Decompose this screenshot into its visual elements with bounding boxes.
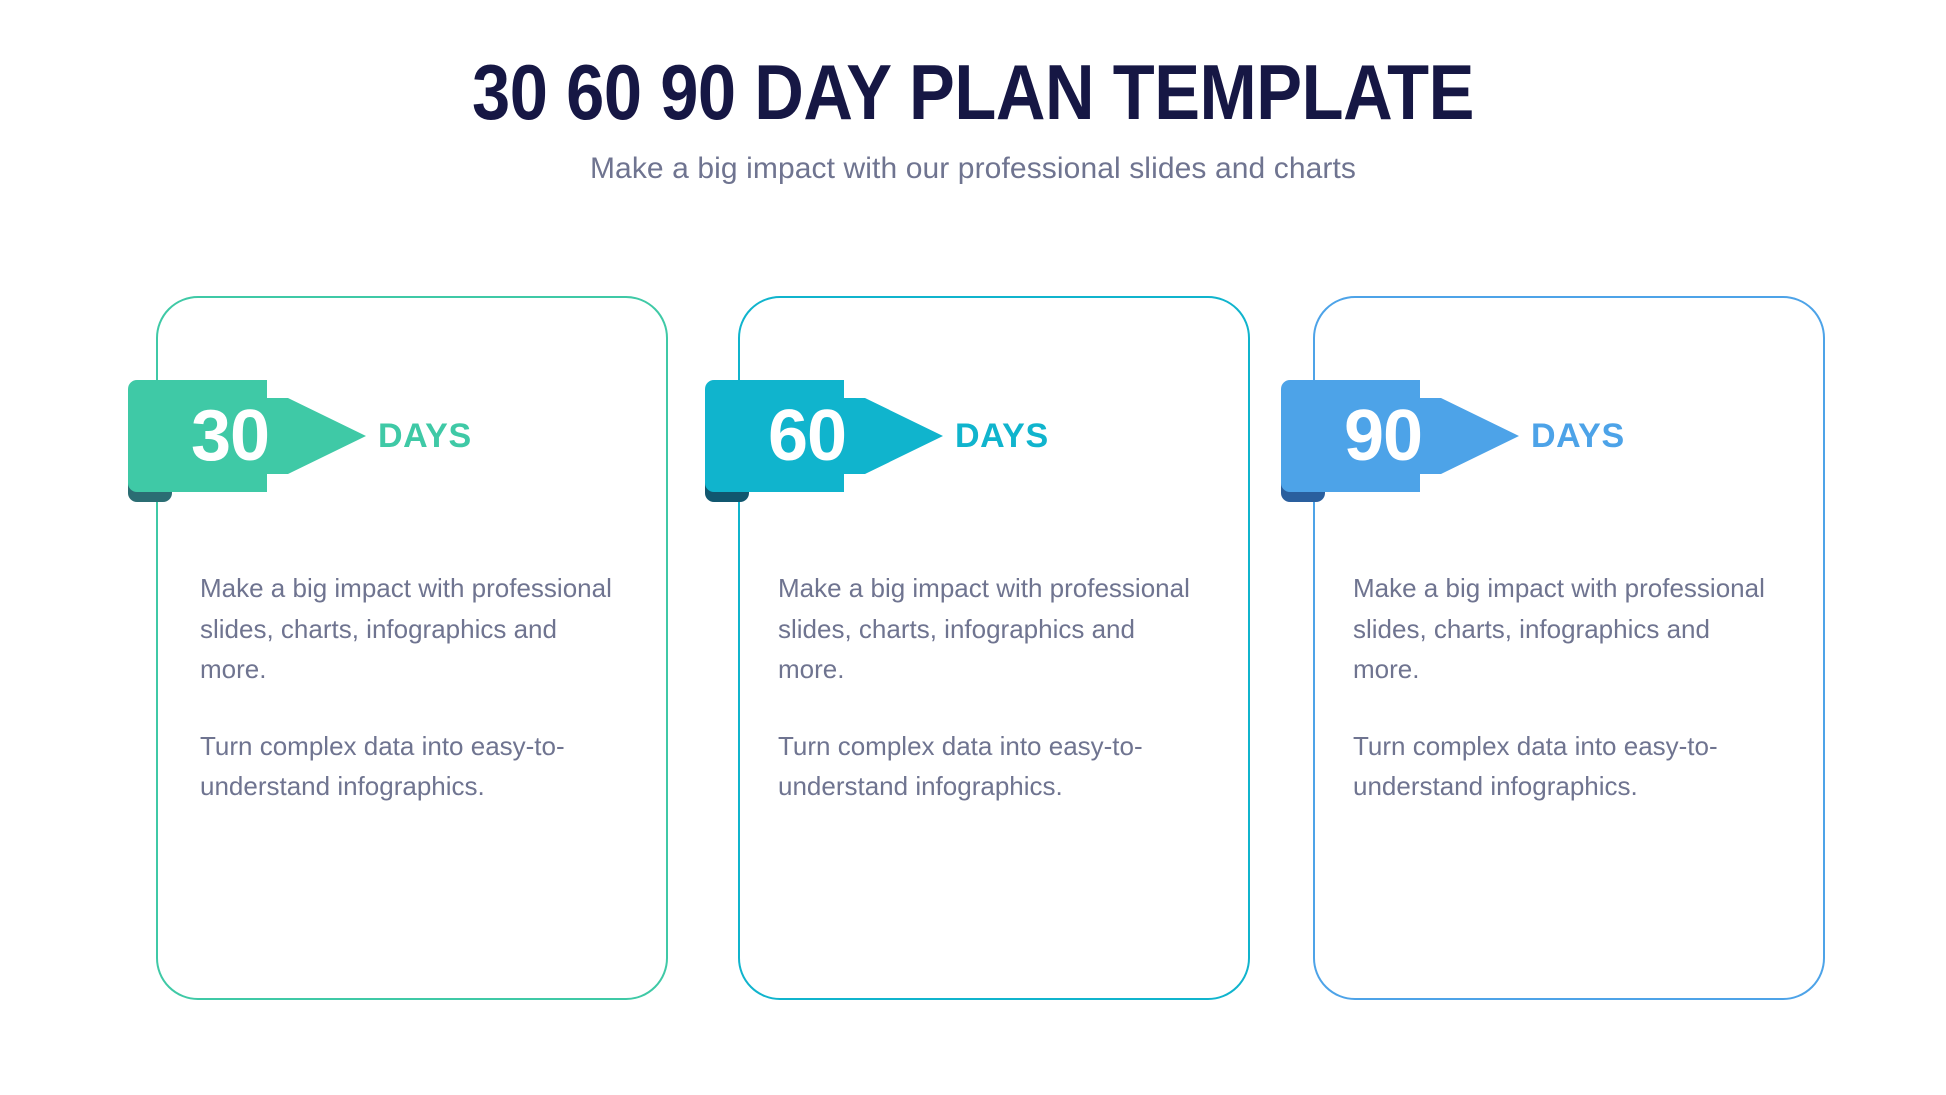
card-body-90: Make a big impact with professional slid… <box>1353 568 1783 807</box>
page-subtitle: Make a big impact with our professional … <box>0 134 1946 186</box>
badge-number: 30 <box>170 380 290 492</box>
badge-number: 90 <box>1323 380 1443 492</box>
badge-unit-label: DAYS <box>1531 380 1625 492</box>
badge-number: 60 <box>747 380 867 492</box>
card-body-60: Make a big impact with professional slid… <box>778 568 1208 807</box>
cards-row: 30 DAYS 60 DAYS 90 DAYS Make a big impac… <box>0 296 1946 1056</box>
card-paragraph: Make a big impact with professional slid… <box>1353 568 1783 690</box>
badge-unit-label: DAYS <box>955 380 1049 492</box>
card-paragraph: Turn complex data into easy-to-understan… <box>1353 726 1783 807</box>
badge-unit-label: DAYS <box>378 380 472 492</box>
slide-canvas: 30 60 90 DAY PLAN TEMPLATE Make a big im… <box>0 0 1946 1095</box>
card-paragraph: Turn complex data into easy-to-understan… <box>200 726 630 807</box>
card-paragraph: Make a big impact with professional slid… <box>200 568 630 690</box>
page-title: 30 60 90 DAY PLAN TEMPLATE <box>117 0 1829 134</box>
card-paragraph: Turn complex data into easy-to-understan… <box>778 726 1208 807</box>
card-paragraph: Make a big impact with professional slid… <box>778 568 1208 690</box>
card-body-30: Make a big impact with professional slid… <box>200 568 630 807</box>
slide-header: 30 60 90 DAY PLAN TEMPLATE Make a big im… <box>0 0 1946 186</box>
